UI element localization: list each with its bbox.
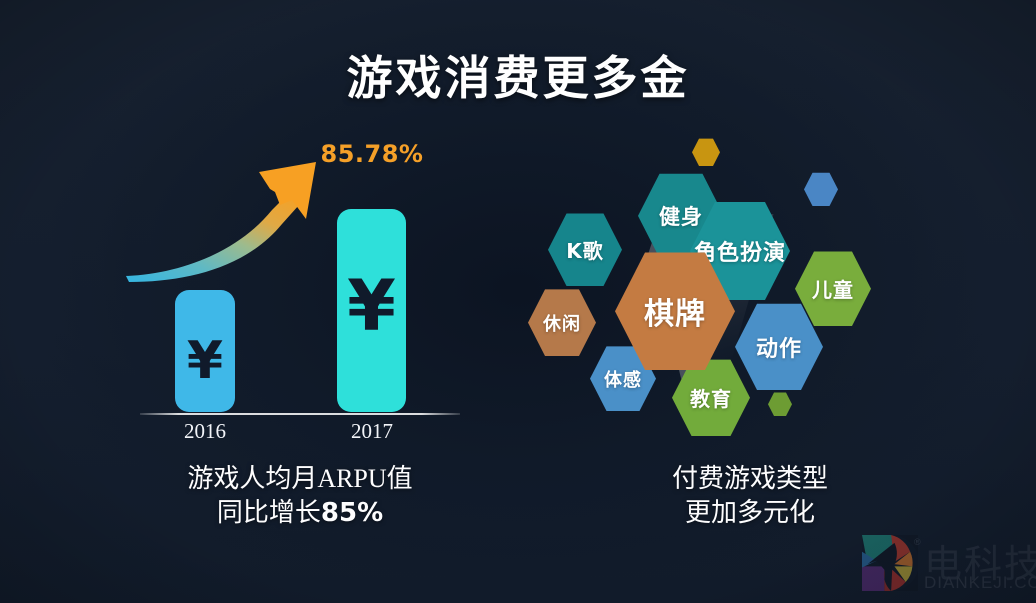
growth-arrow-icon — [120, 148, 370, 288]
yen-symbol-2016: ¥ — [175, 335, 235, 387]
genre-hexagon-label: 教育 — [690, 383, 732, 412]
genre-hexagon-label: 棋牌 — [644, 289, 706, 333]
left-caption: 游戏人均月ARPU值 同比增长85% — [100, 462, 500, 531]
page-title: 游戏消费更多金 — [0, 42, 1036, 108]
decor-hexagon — [692, 138, 720, 167]
genre-hexagon[interactable]: 休闲 — [528, 288, 596, 357]
registered-mark: ® — [914, 537, 921, 547]
left-caption-line1: 游戏人均月ARPU值 — [100, 462, 500, 496]
left-caption-line2: 同比增长85% — [100, 496, 500, 530]
x-axis-label-2016: 2016 — [160, 419, 250, 444]
bar-2016: ¥ — [175, 290, 235, 412]
slide-canvas: 游戏消费更多金 85.78% ¥ ¥ — [0, 0, 1036, 603]
bar-2017: ¥ — [337, 209, 406, 412]
genre-hexagon-label: 动作 — [756, 331, 802, 363]
decor-hexagon — [804, 172, 838, 207]
right-caption-line1: 付费游戏类型 — [560, 462, 940, 496]
yen-symbol-2017: ¥ — [337, 271, 406, 341]
diankeji-logo-icon — [862, 535, 918, 591]
genre-hexagon-label: 健身 — [659, 201, 703, 231]
chart-axis-line — [140, 413, 460, 415]
left-caption-line2-prefix: 同比增长 — [217, 498, 321, 527]
genre-hexagon-label: 体感 — [604, 366, 642, 392]
genre-hexagon-label: 儿童 — [812, 274, 854, 303]
game-genre-hex-cluster: 健身K歌角色扮演棋牌休闲儿童动作体感教育 — [520, 130, 920, 450]
genre-hexagon[interactable]: K歌 — [548, 212, 622, 287]
left-caption-line2-value: 85% — [321, 498, 383, 528]
arpu-bar-chart: 85.78% ¥ ¥ 2016 2017 — [120, 130, 480, 450]
genre-hexagon[interactable]: 教育 — [672, 358, 750, 438]
right-caption: 付费游戏类型 更加多元化 — [560, 462, 940, 531]
genre-hexagon-label: 休闲 — [543, 310, 581, 336]
watermark: ® 电科技 DIANKEJI.COM — [862, 531, 1036, 595]
right-caption-line2: 更加多元化 — [560, 496, 940, 530]
decor-hexagon — [768, 392, 792, 416]
watermark-en-text: DIANKEJI.COM — [924, 573, 1036, 593]
genre-hexagon-label: K歌 — [566, 235, 604, 264]
x-axis-label-2017: 2017 — [327, 419, 417, 444]
